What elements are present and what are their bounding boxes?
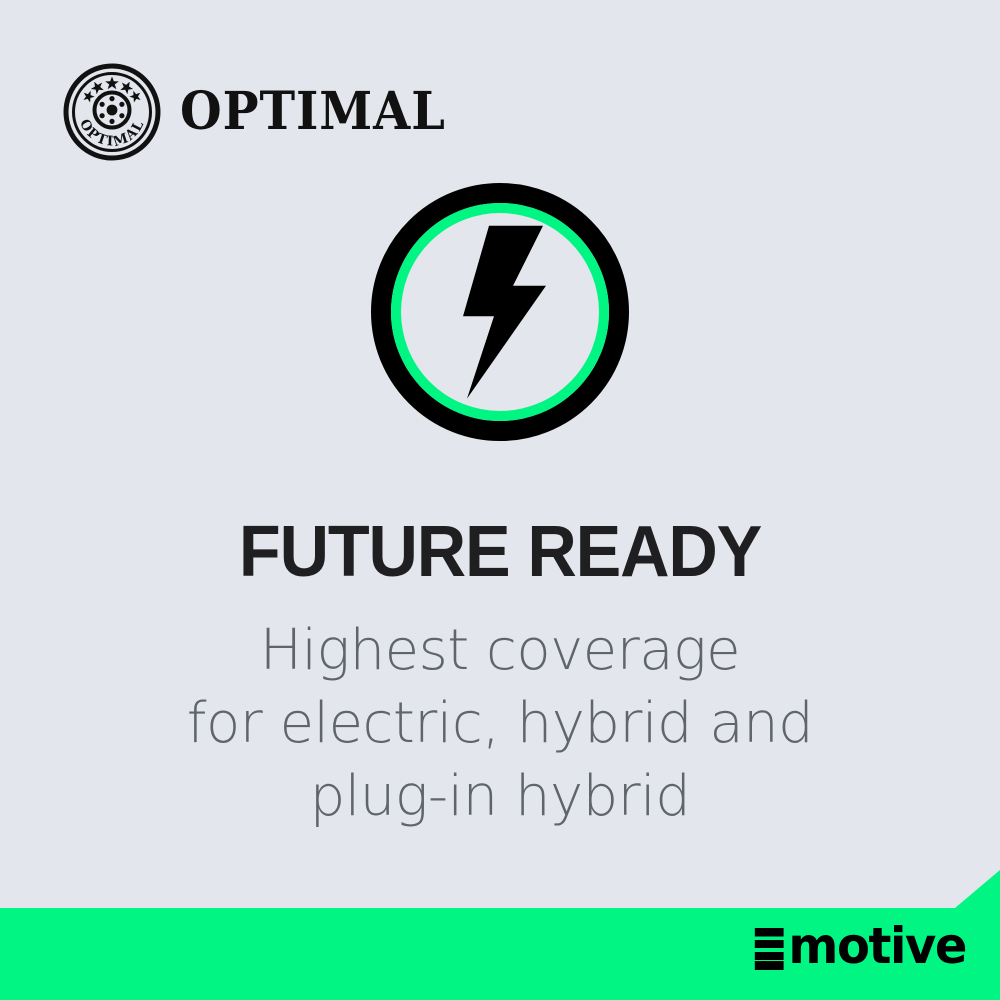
subcopy-line-2: for electric, hybrid and [40, 688, 960, 761]
bolt-glyph [463, 226, 546, 399]
emotive-logo: motive [753, 920, 966, 970]
lightning-bolt-in-circle-icon [371, 183, 629, 441]
page-title: FUTURE READY [63, 516, 937, 589]
emotive-e-icon [753, 928, 786, 970]
emotive-wordmark-rest: motive [788, 921, 966, 971]
copy-block: FUTURE READY Highest coverage for electr… [0, 516, 1000, 834]
subcopy-line-1: Highest coverage [40, 615, 960, 688]
optimal-wordmark: OPTIMAL [180, 86, 446, 138]
brand-lockup: OPTIMAL OPTIMAL [62, 62, 469, 162]
optimal-rosette-badge-icon: OPTIMAL [62, 62, 162, 162]
subcopy-line-3: plug-in hybrid [40, 761, 960, 834]
subcopy: Highest coverage for electric, hybrid an… [40, 615, 960, 833]
promo-card: OPTIMAL OPTIMAL [0, 0, 1000, 1000]
footer-banner: motive [0, 870, 1000, 1000]
